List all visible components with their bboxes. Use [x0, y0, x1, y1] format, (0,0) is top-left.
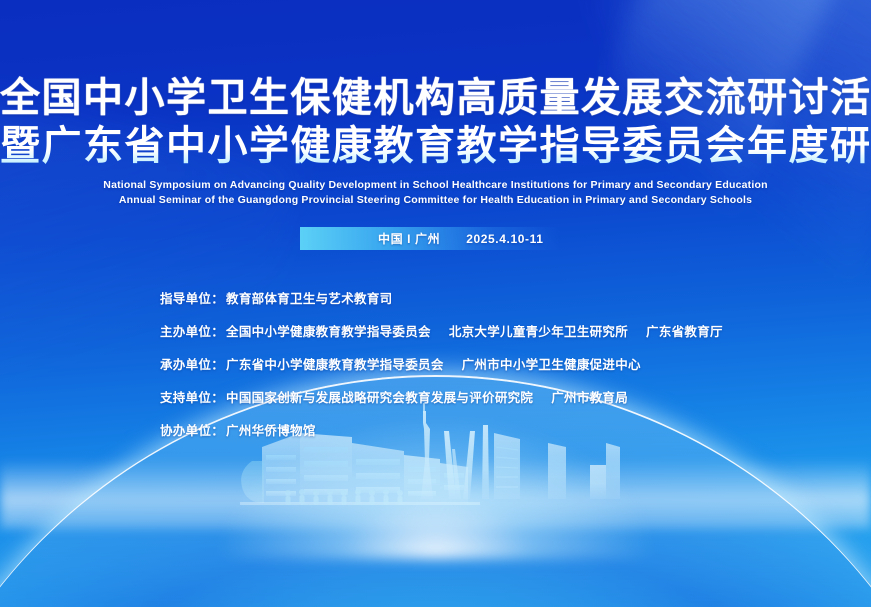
event-location: 中国 I 广州: [378, 230, 440, 247]
event-info-banner: 中国 I 广州 2025.4.10-11: [300, 227, 560, 250]
english-subtitle-line-2: Annual Seminar of the Guangdong Provinci…: [0, 193, 871, 208]
title-line-1: 全国中小学卫生保健机构高质量发展交流研讨活动: [0, 74, 871, 122]
organizer-row: 主办单位： 全国中小学健康教育教学指导委员会 北京大学儿童青少年卫生研究所 广东…: [160, 321, 723, 340]
organizer-label: 指导单位：: [160, 288, 224, 307]
organizer-value: 全国中小学健康教育教学指导委员会: [226, 321, 431, 340]
organizer-label: 支持单位：: [160, 387, 224, 406]
organizer-label: 主办单位：: [160, 321, 224, 340]
event-date: 2025.4.10-11: [466, 232, 543, 246]
organizer-row: 协办单位： 广州华侨博物馆: [160, 420, 723, 439]
english-subtitle: National Symposium on Advancing Quality …: [0, 178, 871, 208]
organizer-value: 中国国家创新与发展战略研究会教育发展与评价研究院: [226, 387, 533, 406]
poster-title: 全国中小学卫生保健机构高质量发展交流研讨活动 暨广东省中小学健康教育教学指导委员…: [0, 74, 871, 170]
horizon-haze: [0, 459, 871, 529]
organizer-value: 北京大学儿童青少年卫生研究所: [449, 321, 628, 340]
organizer-row: 支持单位： 中国国家创新与发展战略研究会教育发展与评价研究院 广州市教育局: [160, 387, 723, 406]
organizer-value: 教育部体育卫生与艺术教育司: [226, 288, 392, 307]
organizer-value: 广东省教育厅: [646, 321, 723, 340]
organizer-label: 承办单位：: [160, 354, 224, 373]
organizer-list: 指导单位： 教育部体育卫生与艺术教育司 主办单位： 全国中小学健康教育教学指导委…: [160, 288, 723, 453]
organizer-value: 广州市中小学卫生健康促进中心: [462, 354, 641, 373]
organizer-value: 广州市教育局: [551, 387, 628, 406]
organizer-row: 承办单位： 广东省中小学健康教育教学指导委员会 广州市中小学卫生健康促进中心: [160, 354, 723, 373]
title-line-2: 暨广东省中小学健康教育教学指导委员会年度研讨活动: [0, 122, 871, 170]
organizer-value: 广州华侨博物馆: [226, 420, 316, 439]
conference-poster: 全国中小学卫生保健机构高质量发展交流研讨活动 暨广东省中小学健康教育教学指导委员…: [0, 0, 871, 607]
english-subtitle-line-1: National Symposium on Advancing Quality …: [0, 178, 871, 193]
organizer-row: 指导单位： 教育部体育卫生与艺术教育司: [160, 288, 723, 307]
organizer-label: 协办单位：: [160, 420, 224, 439]
organizer-value: 广东省中小学健康教育教学指导委员会: [226, 354, 444, 373]
